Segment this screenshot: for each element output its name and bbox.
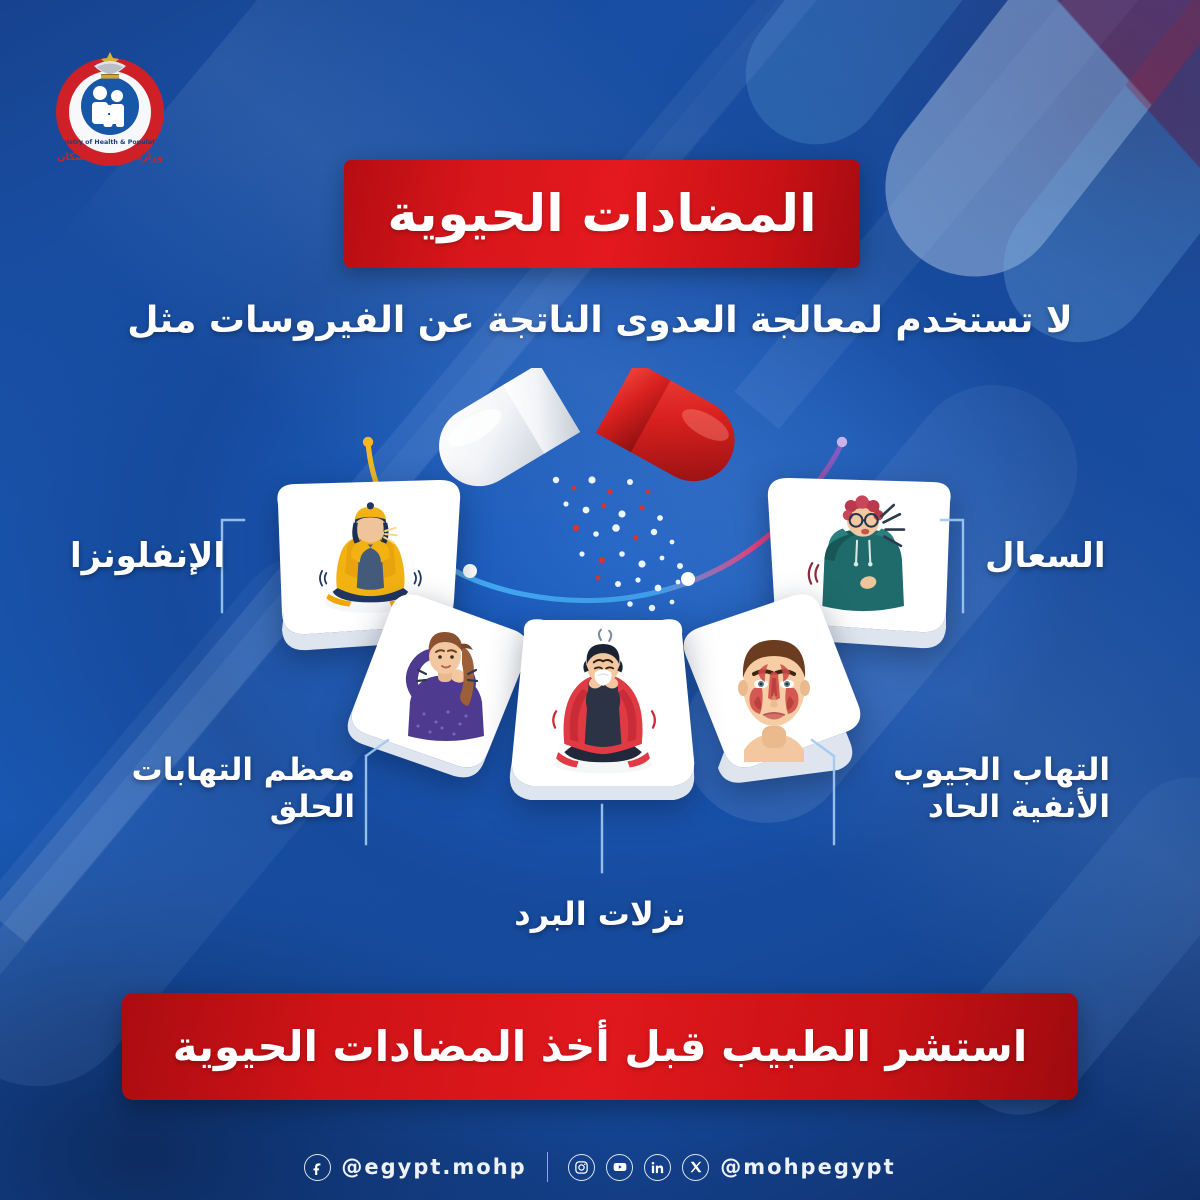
subtitle-text: لا تستخدم لمعالجة العدوى الناتجة عن الفي… <box>0 299 1200 343</box>
background-capsule-shape <box>717 0 1092 173</box>
condition-label-sore-throat: معظم التهابات الحلق <box>95 752 355 826</box>
condition-label-acute-sinusitis-line2: الأنفية الحاد <box>850 789 1110 826</box>
title-banner: المضادات الحيوية <box>344 160 860 268</box>
condition-label-sore-throat-line2: الحلق <box>95 789 355 826</box>
svg-text:وزارة الصحة والسكان: وزارة الصحة والسكان <box>57 152 163 163</box>
facebook-handle[interactable]: @egypt.mohp <box>341 1155 526 1179</box>
instagram-icon[interactable] <box>568 1154 595 1181</box>
svg-text:Ministry of Health & Populatio: Ministry of Health & Population <box>54 139 166 146</box>
linkedin-icon[interactable] <box>644 1154 671 1181</box>
footer-cta-text: استشر الطبيب قبل أخذ المضادات الحيوية <box>173 1026 1028 1068</box>
shared-handle[interactable]: @mohpegypt <box>720 1155 895 1179</box>
condition-label-sore-throat-line1: معظم التهابات <box>95 752 355 789</box>
condition-card-common-cold[interactable] <box>498 618 708 818</box>
footer-cta-banner: استشر الطبيب قبل أخذ المضادات الحيوية <box>122 993 1078 1100</box>
background-capsule-shape <box>849 0 1200 312</box>
social-media-bar: @egypt.mohp <box>0 1143 1200 1191</box>
condition-label-cough: السعال <box>985 536 1170 577</box>
facebook-icon[interactable] <box>304 1154 331 1181</box>
infographic-canvas: Ministry of Health & Population وزارة ال… <box>0 0 1200 1200</box>
x-twitter-icon[interactable] <box>682 1154 709 1181</box>
page-title: المضادات الحيوية <box>387 189 816 240</box>
condition-label-acute-sinusitis-line1: التهاب الجيوب <box>850 752 1110 789</box>
youtube-icon[interactable] <box>606 1154 633 1181</box>
condition-label-acute-sinusitis: التهاب الجيوب الأنفية الحاد <box>850 752 1110 826</box>
connector-influenza <box>222 520 244 612</box>
facebook-group[interactable]: @egypt.mohp <box>304 1154 526 1181</box>
social-divider <box>547 1152 549 1182</box>
condition-label-influenza: الإنفلونزا <box>40 536 225 577</box>
condition-label-common-cold: نزلات البرد <box>440 895 760 933</box>
ministry-of-health-logo: Ministry of Health & Population وزارة ال… <box>40 36 180 176</box>
